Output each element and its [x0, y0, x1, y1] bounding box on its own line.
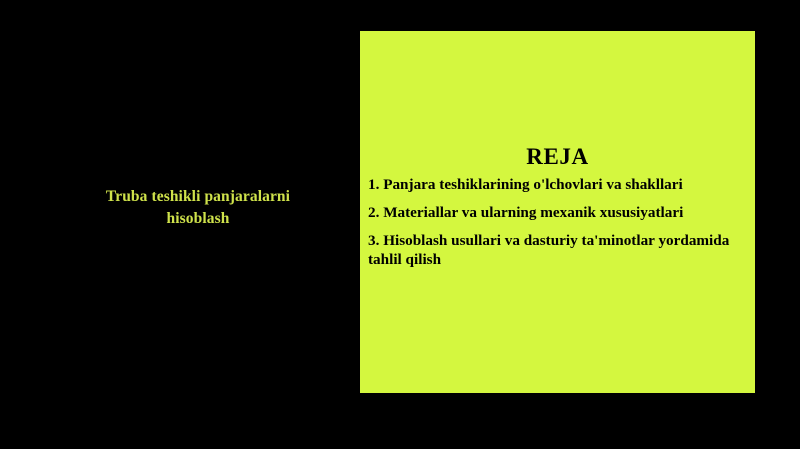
- reja-heading: REJA: [360, 144, 755, 170]
- slide-title: Truba teshikli panjaralarni hisoblash: [48, 186, 348, 230]
- reja-panel: REJA 1. Panjara teshiklarining o'lchovla…: [360, 31, 755, 393]
- list-item: 2. Materiallar va ularning mexanik xusus…: [368, 203, 748, 222]
- list-item: 3. Hisoblash usullari va dasturiy ta'min…: [368, 231, 748, 269]
- slide-title-line-2: hisoblash: [48, 208, 348, 230]
- list-item: 1. Panjara teshiklarining o'lchovlari va…: [368, 175, 748, 194]
- reja-list: 1. Panjara teshiklarining o'lchovlari va…: [368, 175, 748, 269]
- slide-title-line-1: Truba teshikli panjaralarni: [48, 186, 348, 208]
- presentation-slide: Truba teshikli panjaralarni hisoblash RE…: [0, 0, 800, 449]
